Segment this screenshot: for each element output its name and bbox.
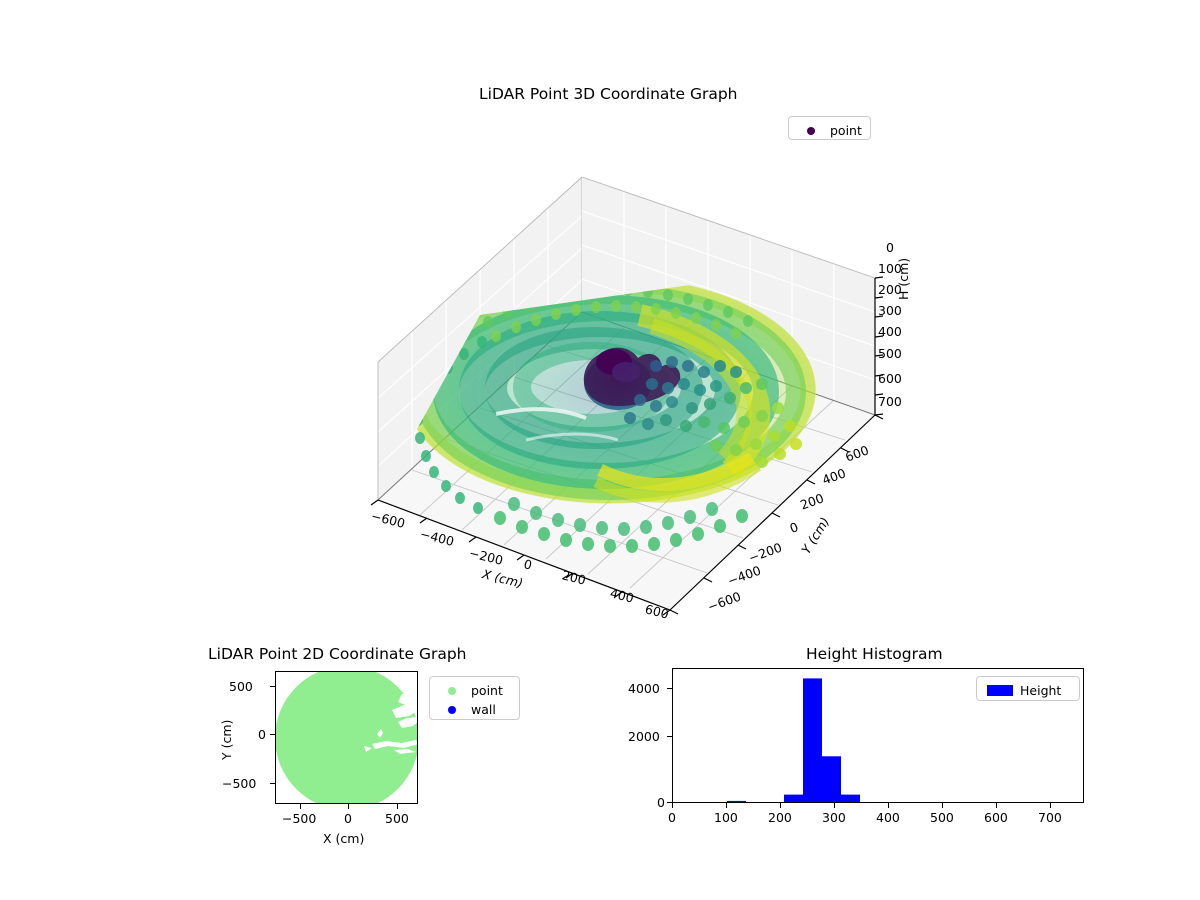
plot2d-title: LiDAR Point 2D Coordinate Graph [208, 645, 466, 663]
wall-marker-icon [437, 706, 467, 714]
matplotlib-figure: LiDAR Point 3D Coordinate Graph point [0, 0, 1200, 900]
hist-ytick-mark-4000 [667, 688, 672, 689]
plot2d-ylabel: Y (cm) [219, 720, 234, 760]
histogram-title: Height Histogram [806, 645, 943, 663]
hist-xtick-0: 0 [668, 810, 676, 825]
plot2d-ytick-mark-500 [270, 686, 275, 687]
plot2d-xtick-1: 0 [344, 811, 352, 826]
point-marker-icon [796, 127, 826, 135]
legend-item-height[interactable]: Height [984, 681, 1072, 700]
plot3d-axes[interactable] [300, 140, 920, 620]
hist-xtick-mark-0 [672, 803, 673, 808]
histogram-legend[interactable]: Height [976, 676, 1080, 701]
legend-label: point [467, 683, 503, 698]
plot2d-legend[interactable]: point wall [429, 676, 520, 720]
plot2d-canvas [276, 672, 418, 804]
legend-item-point[interactable]: point [437, 681, 512, 700]
hist-xtick-1: 100 [714, 810, 738, 825]
hist-xtick-mark-200 [780, 803, 781, 808]
plot2d-xtick-2: 500 [385, 811, 409, 826]
legend-item-point[interactable]: point [796, 121, 863, 140]
plot3d-title: LiDAR Point 3D Coordinate Graph [479, 85, 737, 103]
plot2d-ytick-mark-neg500 [270, 783, 275, 784]
plot2d-xlabel: X (cm) [323, 831, 364, 846]
plot3d-ztick-5: 500 [878, 346, 902, 361]
hist-xtick-7: 700 [1038, 810, 1062, 825]
plot3d-ztick-3: 300 [878, 303, 902, 318]
legend-item-wall[interactable]: wall [437, 700, 512, 719]
plot2d-xtick-mark-0 [348, 804, 349, 809]
hist-ytick-2: 4000 [628, 681, 660, 696]
hist-xtick-2: 200 [768, 810, 792, 825]
plot3d-ztick-4: 400 [878, 324, 902, 339]
histogram-bars [689, 678, 860, 803]
legend-label: point [826, 123, 862, 138]
hist-xtick-mark-700 [1050, 803, 1051, 808]
hist-xtick-mark-100 [726, 803, 727, 808]
point-disc [276, 672, 418, 804]
legend-label: Height [1016, 683, 1061, 698]
plot3d-legend[interactable]: point [788, 116, 871, 140]
plot2d-xtick-0: −500 [282, 811, 316, 826]
height-patch-icon [984, 685, 1016, 696]
hist-ytick-mark-2000 [667, 736, 672, 737]
plot2d-ytick-2: 500 [229, 679, 253, 694]
plot2d-ytick-mark-0 [270, 734, 275, 735]
plot3d-canvas [300, 140, 920, 620]
hist-xtick-mark-500 [942, 803, 943, 808]
plot3d-ztick-6: 600 [878, 371, 902, 386]
plot2d-ytick-0: −500 [222, 776, 256, 791]
hist-xtick-5: 500 [930, 810, 954, 825]
hist-xtick-mark-400 [888, 803, 889, 808]
plot2d-xtick-mark-500 [397, 804, 398, 809]
plot3d-ztick-0: 0 [886, 240, 894, 255]
hist-xtick-mark-600 [996, 803, 997, 808]
hist-ytick-0: 0 [657, 795, 665, 810]
plot2d-axes[interactable] [275, 671, 418, 804]
hist-xtick-6: 600 [984, 810, 1008, 825]
legend-label: wall [467, 702, 496, 717]
hist-ytick-1: 2000 [628, 729, 660, 744]
plot2d-ytick-1: 0 [258, 727, 266, 742]
point-marker-icon [437, 687, 467, 695]
hist-xtick-3: 300 [822, 810, 846, 825]
hist-xtick-4: 400 [876, 810, 900, 825]
plot3d-zlabel: H (cm) [896, 258, 911, 300]
plot2d-xtick-mark-neg500 [300, 804, 301, 809]
plot3d-ztick-7: 700 [878, 394, 902, 409]
hist-xtick-mark-300 [834, 803, 835, 808]
